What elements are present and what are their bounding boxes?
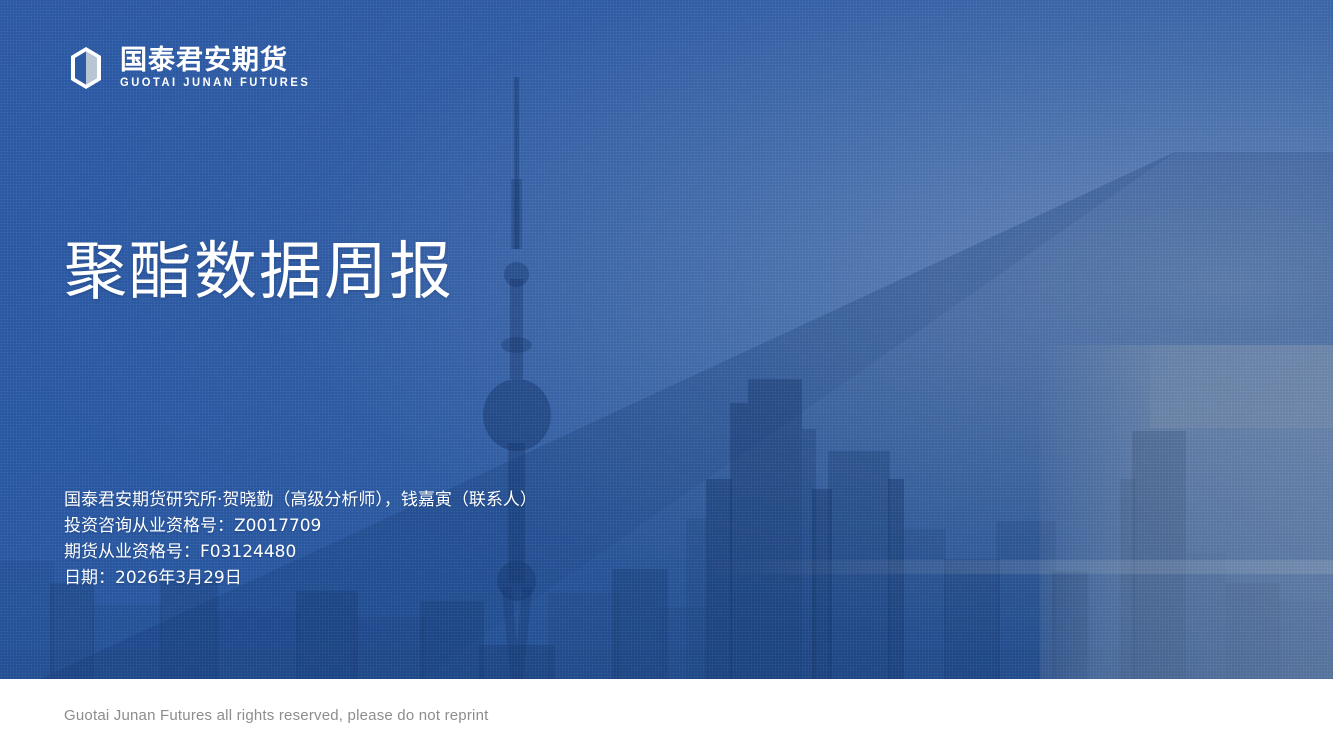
- brand-logo: 国泰君安期货 GUOTAI JUNAN FUTURES: [64, 46, 316, 90]
- page-title: 聚酯数据周报: [64, 237, 454, 306]
- authors-line: 国泰君安期货研究所·贺晓勤（高级分析师），钱嘉寅（联系人）: [64, 487, 537, 513]
- brand-name-en: GUOTAI JUNAN FUTURES: [120, 77, 310, 89]
- brand-wordmark: 国泰君安期货 GUOTAI JUNAN FUTURES: [120, 47, 316, 88]
- title-slide: 国泰君安期货 GUOTAI JUNAN FUTURES 聚酯数据周报 国泰君安期…: [0, 0, 1333, 750]
- report-date-line: 日期：2026年3月29日: [64, 565, 537, 591]
- investment-license-line: 投资咨询从业资格号：Z0017709: [64, 513, 537, 539]
- hero-background: 国泰君安期货 GUOTAI JUNAN FUTURES 聚酯数据周报 国泰君安期…: [0, 0, 1333, 679]
- footer-copyright: Guotai Junan Futures all rights reserved…: [64, 707, 489, 724]
- guotai-junan-octagon-logo-icon: [64, 46, 108, 90]
- author-credentials-block: 国泰君安期货研究所·贺晓勤（高级分析师），钱嘉寅（联系人） 投资咨询从业资格号：…: [64, 487, 537, 591]
- brand-name-cn: 国泰君安期货: [120, 47, 316, 75]
- futures-license-line: 期货从业资格号：F03124480: [64, 539, 537, 565]
